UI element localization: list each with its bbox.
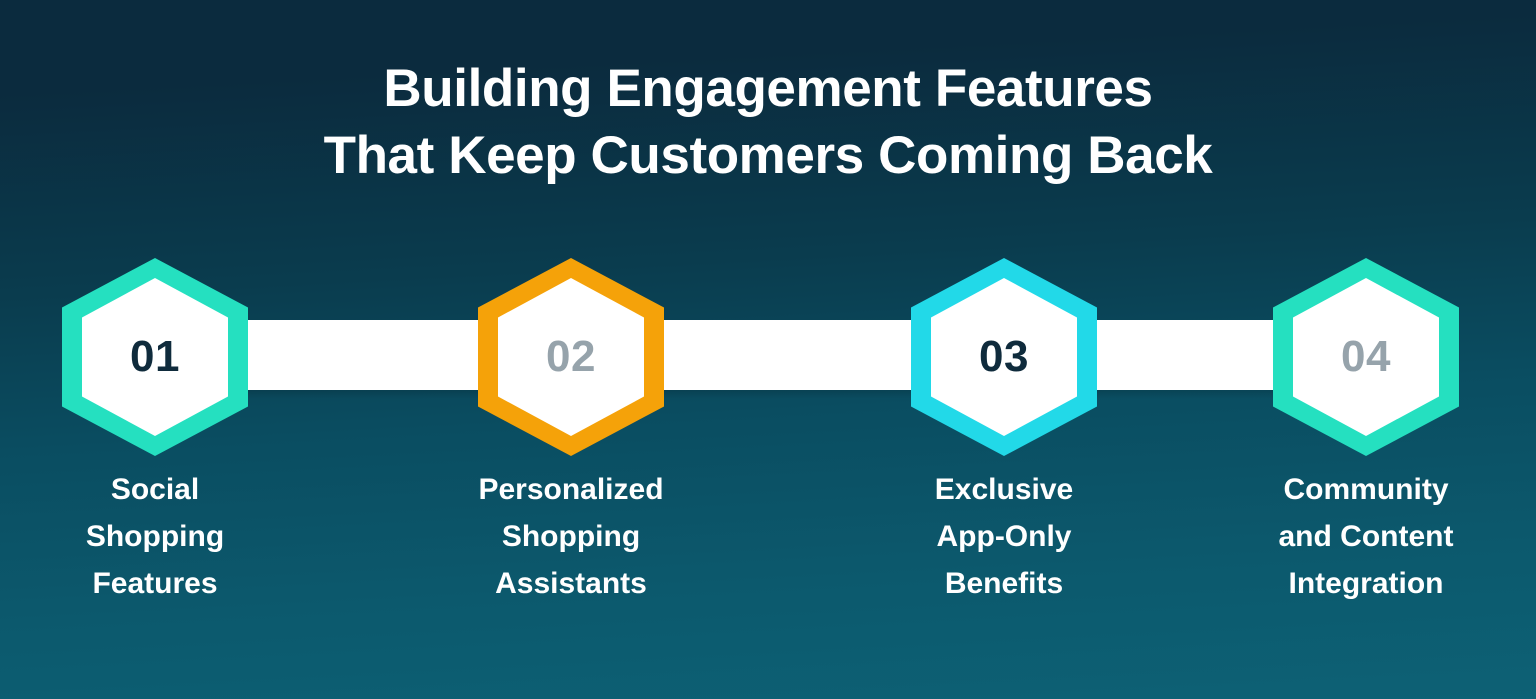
caption-line: and Content [1216,513,1516,560]
caption-line: App-Only [854,513,1154,560]
caption-line: Assistants [421,560,721,607]
step-caption-2: Personalized Shopping Assistants [421,466,721,607]
step-number-4: 04 [1341,335,1391,379]
title-line-1: Building Engagement Features [0,55,1536,122]
page-title: Building Engagement Features That Keep C… [0,55,1536,189]
step-node-2[interactable]: 02 [478,258,664,456]
step-caption-1: Social Shopping Features [5,466,305,607]
title-line-2: That Keep Customers Coming Back [0,122,1536,189]
caption-line: Community [1216,466,1516,513]
connector-bar [155,320,1366,390]
step-number-3: 03 [979,335,1029,379]
step-number-2: 02 [546,335,596,379]
caption-line: Benefits [854,560,1154,607]
caption-line: Social [5,466,305,513]
step-node-1[interactable]: 01 [62,258,248,456]
step-caption-3: Exclusive App-Only Benefits [854,466,1154,607]
step-number-1: 01 [130,335,180,379]
step-caption-4: Community and Content Integration [1216,466,1516,607]
caption-row: Social Shopping Features Personalized Sh… [0,466,1536,626]
caption-line: Features [5,560,305,607]
step-node-3[interactable]: 03 [911,258,1097,456]
caption-line: Shopping [5,513,305,560]
caption-line: Exclusive [854,466,1154,513]
step-node-4[interactable]: 04 [1273,258,1459,456]
caption-line: Shopping [421,513,721,560]
caption-line: Integration [1216,560,1516,607]
caption-line: Personalized [421,466,721,513]
step-row: 01 02 03 04 [0,258,1536,458]
